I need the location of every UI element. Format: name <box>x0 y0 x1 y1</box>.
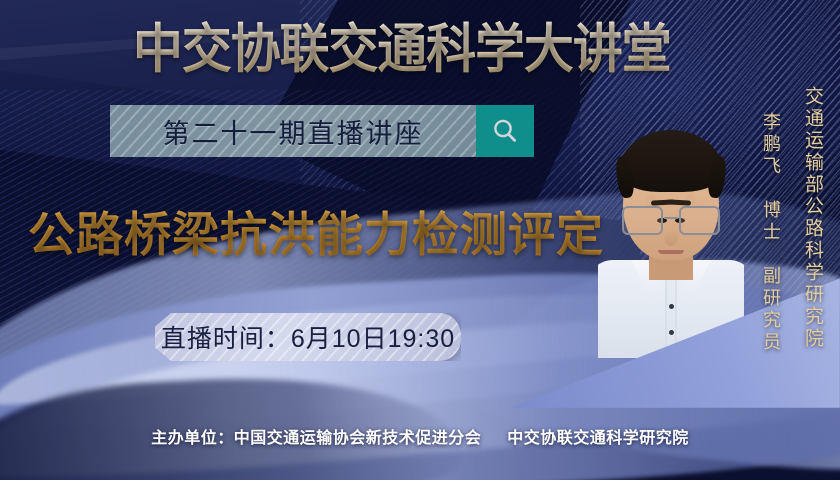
portrait-nose <box>665 230 678 246</box>
portrait-lens-left <box>622 206 663 235</box>
portrait-lens-right <box>679 206 720 235</box>
footer-organizers: 主办单位：中国交通运输协会新技术促进分会中交协联交通科学研究院 <box>0 424 840 448</box>
speaker-portrait <box>598 128 744 358</box>
live-time-badge: 直播时间：6月10日19:30 <box>155 313 461 361</box>
footer-prefix: 主办单位： <box>151 430 234 447</box>
portrait-button-1 <box>669 304 674 309</box>
portrait-hair <box>619 130 723 192</box>
portrait-button-2 <box>669 330 674 335</box>
search-icon <box>490 116 520 146</box>
search-button[interactable] <box>476 105 534 157</box>
footer-organizer-2: 中交协联交通科学研究院 <box>507 430 689 447</box>
footer-organizer-1: 中国交通运输协会新技术促进分会 <box>234 430 482 447</box>
portrait-brow-right <box>667 199 691 205</box>
lecture-title: 公路桥梁抗洪能力检测评定 <box>28 205 604 265</box>
portrait-glasses-bridge <box>664 217 678 219</box>
speaker-organization: 交通运输部公路科学研究院 <box>799 86 826 350</box>
portrait-placket <box>666 278 677 350</box>
live-time-label: 直播时间：6月10日19:30 <box>155 313 461 361</box>
portrait-mouth <box>658 250 684 254</box>
episode-banner: 第二十一期直播讲座 <box>110 105 534 157</box>
live-lecture-poster: 中交协联交通科学大讲堂 第二十一期直播讲座 公路桥梁抗洪能力检测评定 直播时间：… <box>0 0 840 480</box>
episode-label: 第二十一期直播讲座 <box>110 105 476 157</box>
page-title: 中交协联交通科学大讲堂 <box>133 17 671 83</box>
speaker-name-title: 李鹏飞 博士 副研究员 <box>758 112 784 354</box>
